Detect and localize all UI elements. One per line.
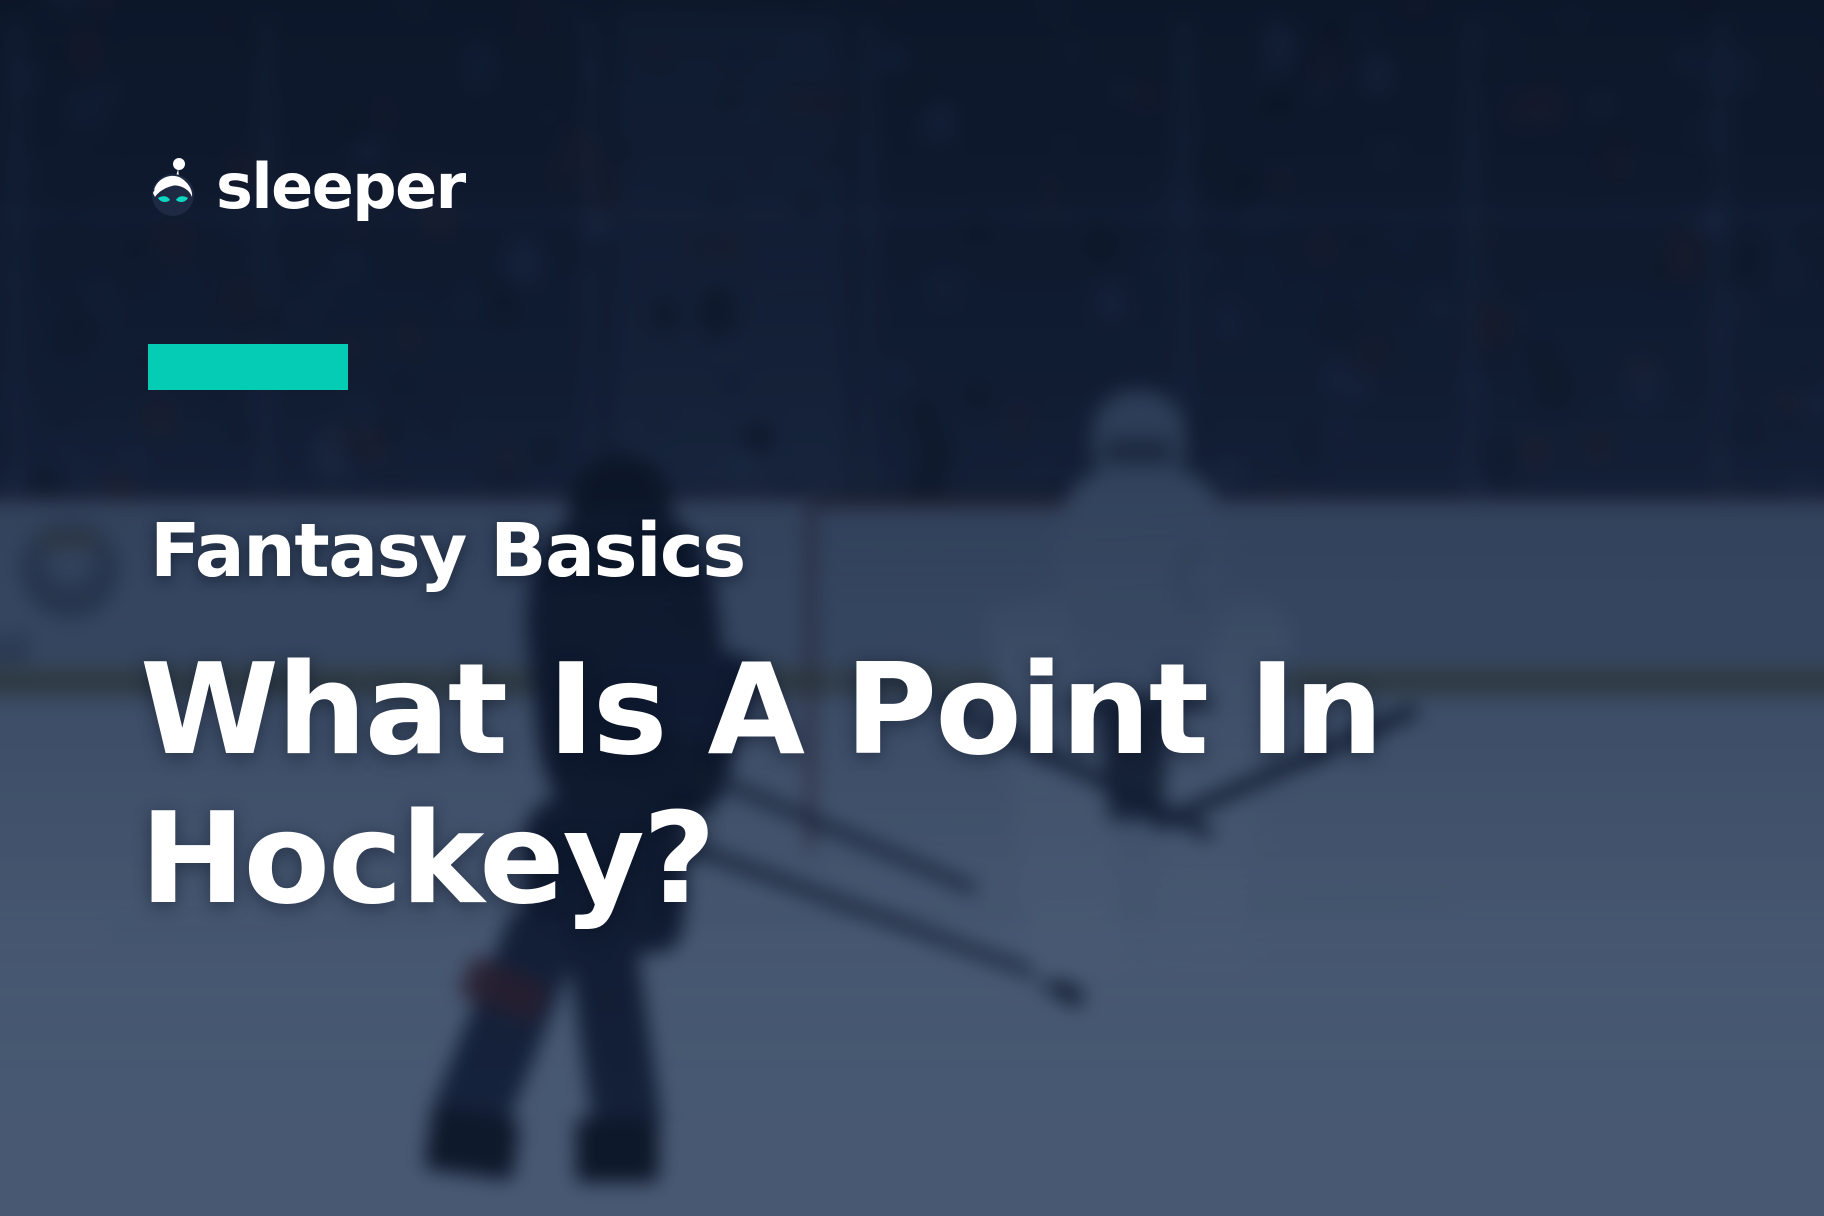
sleeper-robot-icon bbox=[148, 157, 204, 217]
hero-eyebrow: Fantasy Basics bbox=[150, 514, 745, 588]
hero-headline: What Is A Point In Hockey? bbox=[140, 636, 1440, 933]
sleeper-logo[interactable]: sleeper bbox=[148, 155, 465, 219]
sleeper-wordmark: sleeper bbox=[216, 156, 465, 218]
hero-content: sleeper Fantasy Basics What Is A Point I… bbox=[0, 0, 1824, 1216]
article-hero-banner: r cut bbox=[0, 0, 1824, 1216]
teal-accent-bar bbox=[148, 344, 348, 390]
